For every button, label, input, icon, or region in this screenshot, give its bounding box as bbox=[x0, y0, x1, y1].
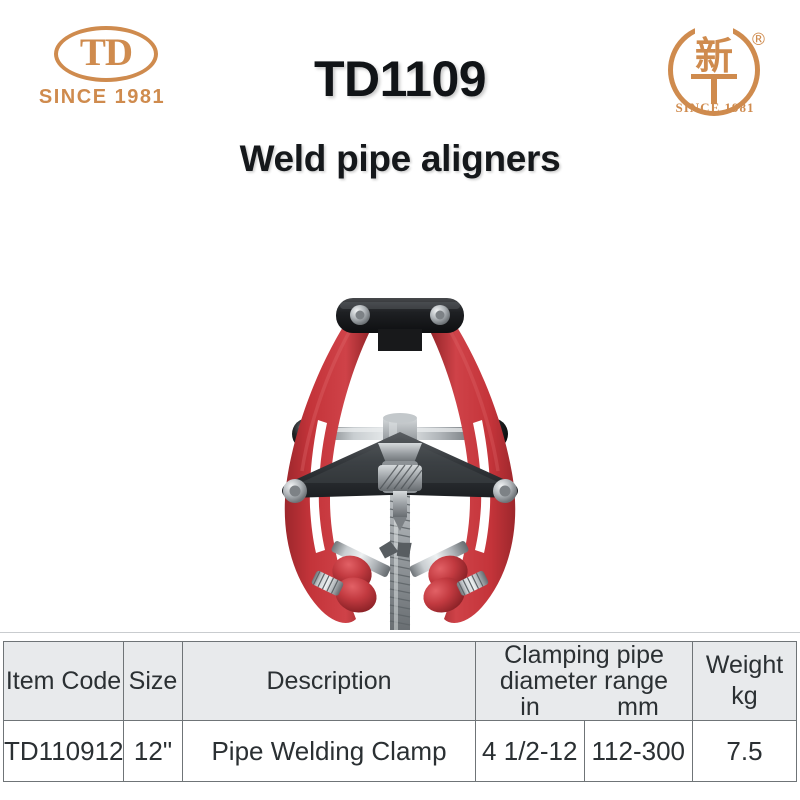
cell-weight: 7.5 bbox=[693, 721, 797, 782]
table-top-rule bbox=[0, 632, 800, 633]
header-cell-item-code: Item Code bbox=[4, 642, 124, 721]
logo-ring-gap-shape bbox=[695, 19, 733, 35]
cell-size: 12" bbox=[124, 721, 183, 782]
header-range-line1: Clamping pipe bbox=[476, 642, 692, 668]
knurled-collar bbox=[378, 443, 422, 493]
page-header: TD SINCE 1981 TD1109 Weld pipe aligners … bbox=[0, 0, 800, 200]
cell-range-mm: 112-300 bbox=[584, 721, 693, 782]
header-weight-unit: kg bbox=[693, 681, 796, 712]
logo-chinese-character: 新 bbox=[668, 36, 760, 76]
plate-collar bbox=[378, 329, 422, 351]
product-photo bbox=[0, 195, 800, 630]
registered-trademark-icon: ® bbox=[750, 30, 767, 50]
specifications-table: Item Code Size Description Clamping pipe… bbox=[3, 641, 797, 782]
brand-logo-xin: 新 ® SINCE 1981 bbox=[655, 22, 775, 128]
logo-tagline: SINCE 1981 bbox=[655, 100, 775, 116]
header-cell-weight: Weight kg bbox=[693, 642, 797, 721]
header-cell-description: Description bbox=[183, 642, 476, 721]
top-mounting-plate bbox=[336, 298, 464, 333]
header-range-line2: diameter range bbox=[476, 668, 692, 694]
cell-description: Pipe Welding Clamp bbox=[183, 721, 476, 782]
header-cell-range-in: in bbox=[476, 694, 584, 720]
table-header-row: Item Code Size Description Clamping pipe… bbox=[4, 642, 797, 721]
table-row: TD110912 12" Pipe Welding Clamp 4 1/2-12… bbox=[4, 721, 797, 782]
cell-range-in: 4 1/2-12 bbox=[476, 721, 585, 782]
header-range-units: in mm bbox=[476, 694, 692, 720]
page-subtitle: Weld pipe aligners bbox=[0, 138, 800, 180]
header-cell-size: Size bbox=[124, 642, 183, 721]
header-weight-label: Weight bbox=[693, 650, 796, 681]
header-cell-range-mm: mm bbox=[584, 694, 692, 720]
cell-item-code: TD110912 bbox=[4, 721, 124, 782]
header-cell-clamping-range: Clamping pipe diameter range in mm bbox=[476, 642, 693, 721]
